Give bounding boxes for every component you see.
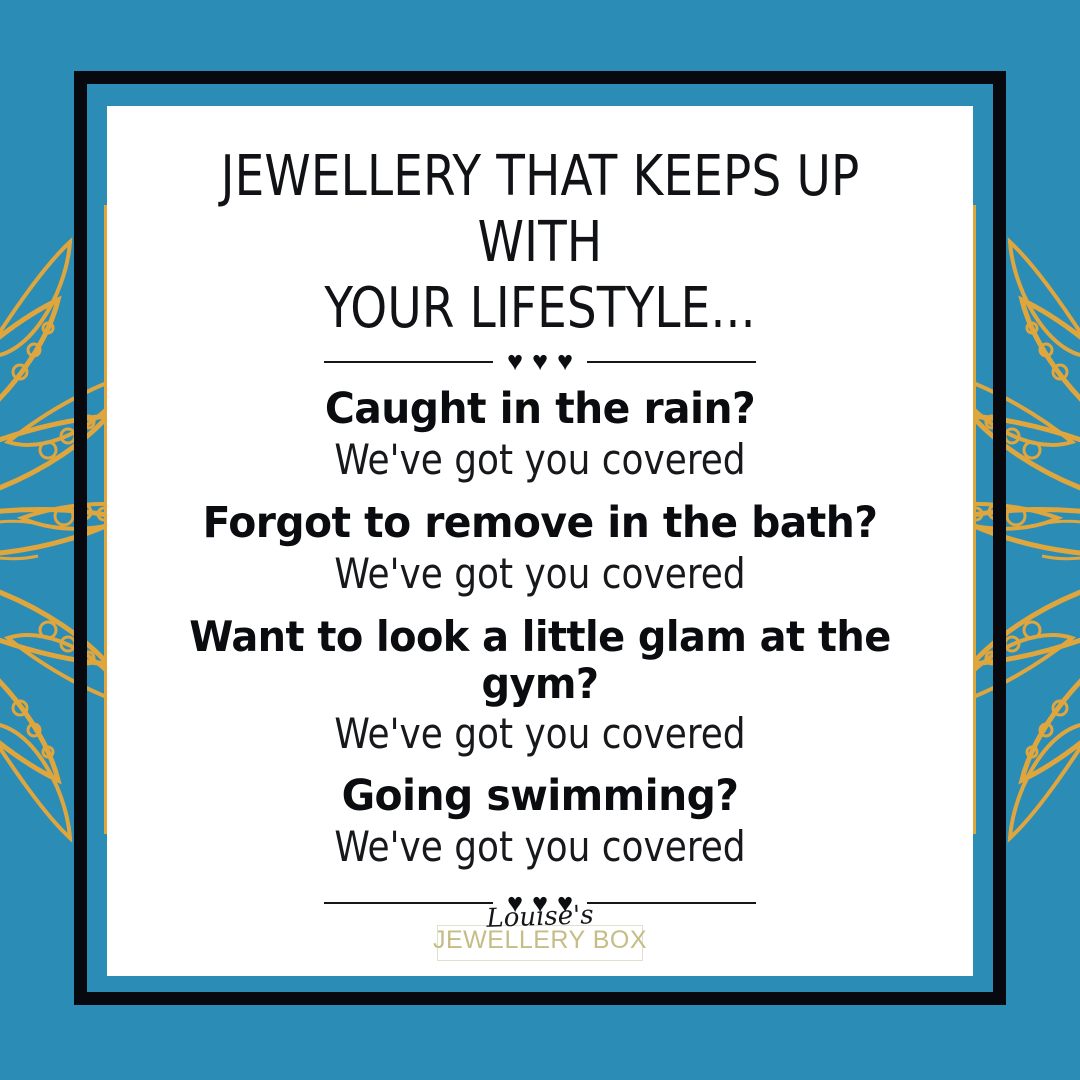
divider-rule-left	[324, 361, 493, 363]
qa-answer: We've got you covered	[167, 435, 914, 485]
heart-icon: ♥	[532, 348, 548, 375]
poster-canvas: JEWELLERY THAT KEEPS UP WITH YOUR LIFEST…	[0, 0, 1080, 1080]
qa-answer: We've got you covered	[167, 709, 914, 759]
qa-question: Going swimming?	[167, 772, 914, 820]
qa-question: Forgot to remove in the bath?	[167, 499, 914, 547]
heart-icon: ♥	[507, 348, 523, 375]
qa-question: Caught in the rain?	[167, 385, 914, 433]
heart-icon: ♥	[557, 348, 573, 375]
page-title-line-2: YOUR LIFESTYLE...	[324, 276, 755, 341]
qa-item: Want to look a little glam at the gym? W…	[147, 613, 933, 759]
divider-rule-right	[587, 902, 756, 904]
qa-item: Going swimming? We've got you covered	[147, 772, 933, 872]
heart-divider-top: ♥ ♥ ♥	[324, 348, 756, 375]
qa-question: Want to look a little glam at the gym?	[167, 613, 914, 707]
qa-item: Forgot to remove in the bath? We've got …	[147, 499, 933, 599]
heart-icons-group: ♥ ♥ ♥	[493, 348, 587, 375]
content-card: JEWELLERY THAT KEEPS UP WITH YOUR LIFEST…	[107, 106, 973, 976]
divider-rule-left	[324, 902, 493, 904]
qa-answer: We've got you covered	[167, 549, 914, 599]
page-title: JEWELLERY THAT KEEPS UP WITH YOUR LIFEST…	[175, 144, 906, 342]
brand-logo: Louise's JEWELLERY BOX	[437, 925, 643, 961]
qa-answer: We've got you covered	[167, 822, 914, 872]
brand-logo-script: Louise's	[486, 900, 594, 934]
page-title-line-1: JEWELLERY THAT KEEPS UP WITH	[221, 144, 860, 275]
qa-item: Caught in the rain? We've got you covere…	[147, 385, 933, 485]
qa-list: Caught in the rain? We've got you covere…	[147, 385, 933, 886]
divider-rule-right	[587, 361, 756, 363]
